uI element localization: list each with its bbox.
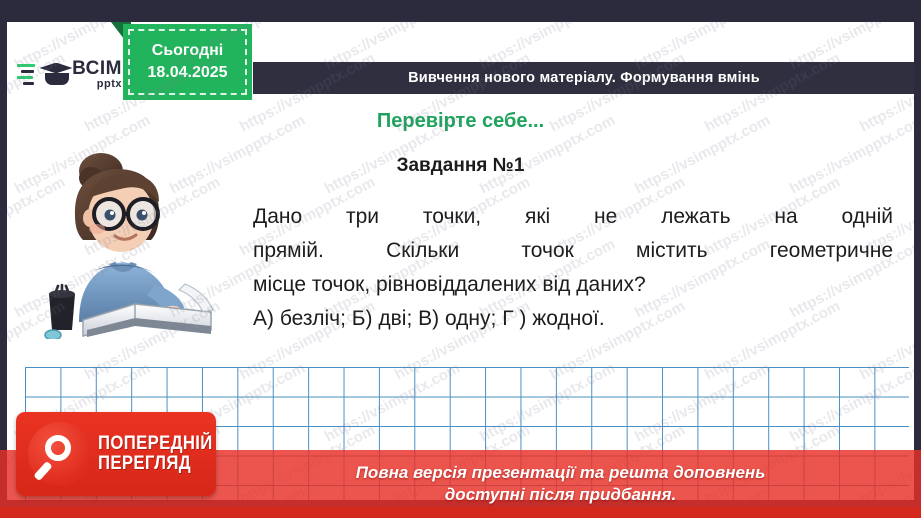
question-line-1: Дано три точки, які не лежать на одній bbox=[253, 200, 893, 234]
today-label: Сьогодні bbox=[152, 42, 223, 60]
today-badge: Сьогодні 18.04.2025 bbox=[123, 24, 252, 100]
purchase-banner-text: Повна версія презентації та решта доповн… bbox=[156, 462, 766, 507]
preview-label-line-1: ПОПЕРЕДНІЙ bbox=[98, 434, 213, 454]
preview-button[interactable]: ПОПЕРЕДНІЙ ПЕРЕГЛЯД bbox=[16, 412, 216, 496]
today-badge-wrap: Сьогодні 18.04.2025 bbox=[111, 22, 252, 102]
preview-label-line-2: ПЕРЕГЛЯД bbox=[98, 454, 213, 474]
question-block: Дано три точки, які не лежать на одній п… bbox=[253, 200, 893, 336]
check-yourself-title: Перевірте себе... bbox=[7, 110, 914, 133]
speed-lines-icon bbox=[17, 64, 36, 85]
question-options: А) безліч; Б) дві; В) одну; Г ) жодної. bbox=[253, 302, 893, 336]
header-title: Вивчення нового матеріалу. Формування вм… bbox=[408, 70, 760, 86]
banner-bottom-strip bbox=[0, 507, 921, 518]
preview-button-label: ПОПЕРЕДНІЙ ПЕРЕГЛЯД bbox=[98, 434, 228, 474]
magnifier-icon bbox=[28, 422, 92, 486]
header-bar: Вивчення нового матеріалу. Формування вм… bbox=[253, 62, 914, 94]
banner-line-1: Повна версія презентації та решта доповн… bbox=[356, 462, 766, 484]
today-date: 18.04.2025 bbox=[147, 64, 227, 82]
slide-frame: ВСІМ pptx Вивчення нового матеріалу. Фор… bbox=[0, 0, 921, 518]
girl-reading-illustration bbox=[35, 144, 220, 339]
graduation-cap-icon bbox=[40, 60, 69, 90]
brand-logo: ВСІМ pptx bbox=[17, 52, 122, 97]
question-line-2: прямій. Скільки точок містить геометричн… bbox=[253, 234, 893, 268]
banner-line-2: доступні після придбання. bbox=[356, 484, 766, 506]
question-line-3: місце точок, рівновіддалених від даних? bbox=[253, 268, 893, 302]
